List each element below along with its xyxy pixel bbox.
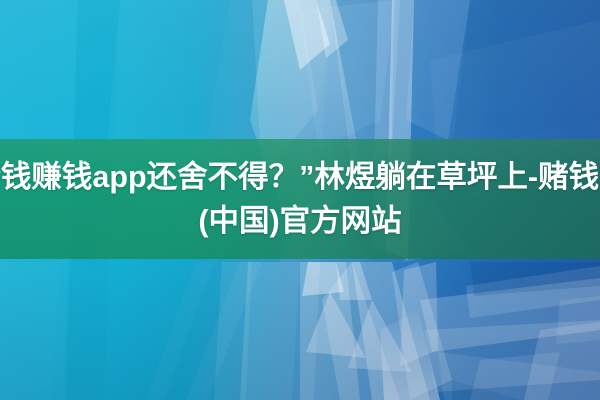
headline-block: 赌钱赚钱app还舍不得？”林煜躺在草坪上-赌钱网 (中国)官方网站 — [0, 139, 600, 259]
headline-line-1: 赌钱赚钱app还舍不得？”林煜躺在草坪上-赌钱网 — [0, 155, 600, 199]
headline-line-2: (中国)官方网站 — [198, 199, 401, 243]
promo-banner: 赌钱赚钱app还舍不得？”林煜躺在草坪上-赌钱网 (中国)官方网站 — [0, 0, 600, 400]
